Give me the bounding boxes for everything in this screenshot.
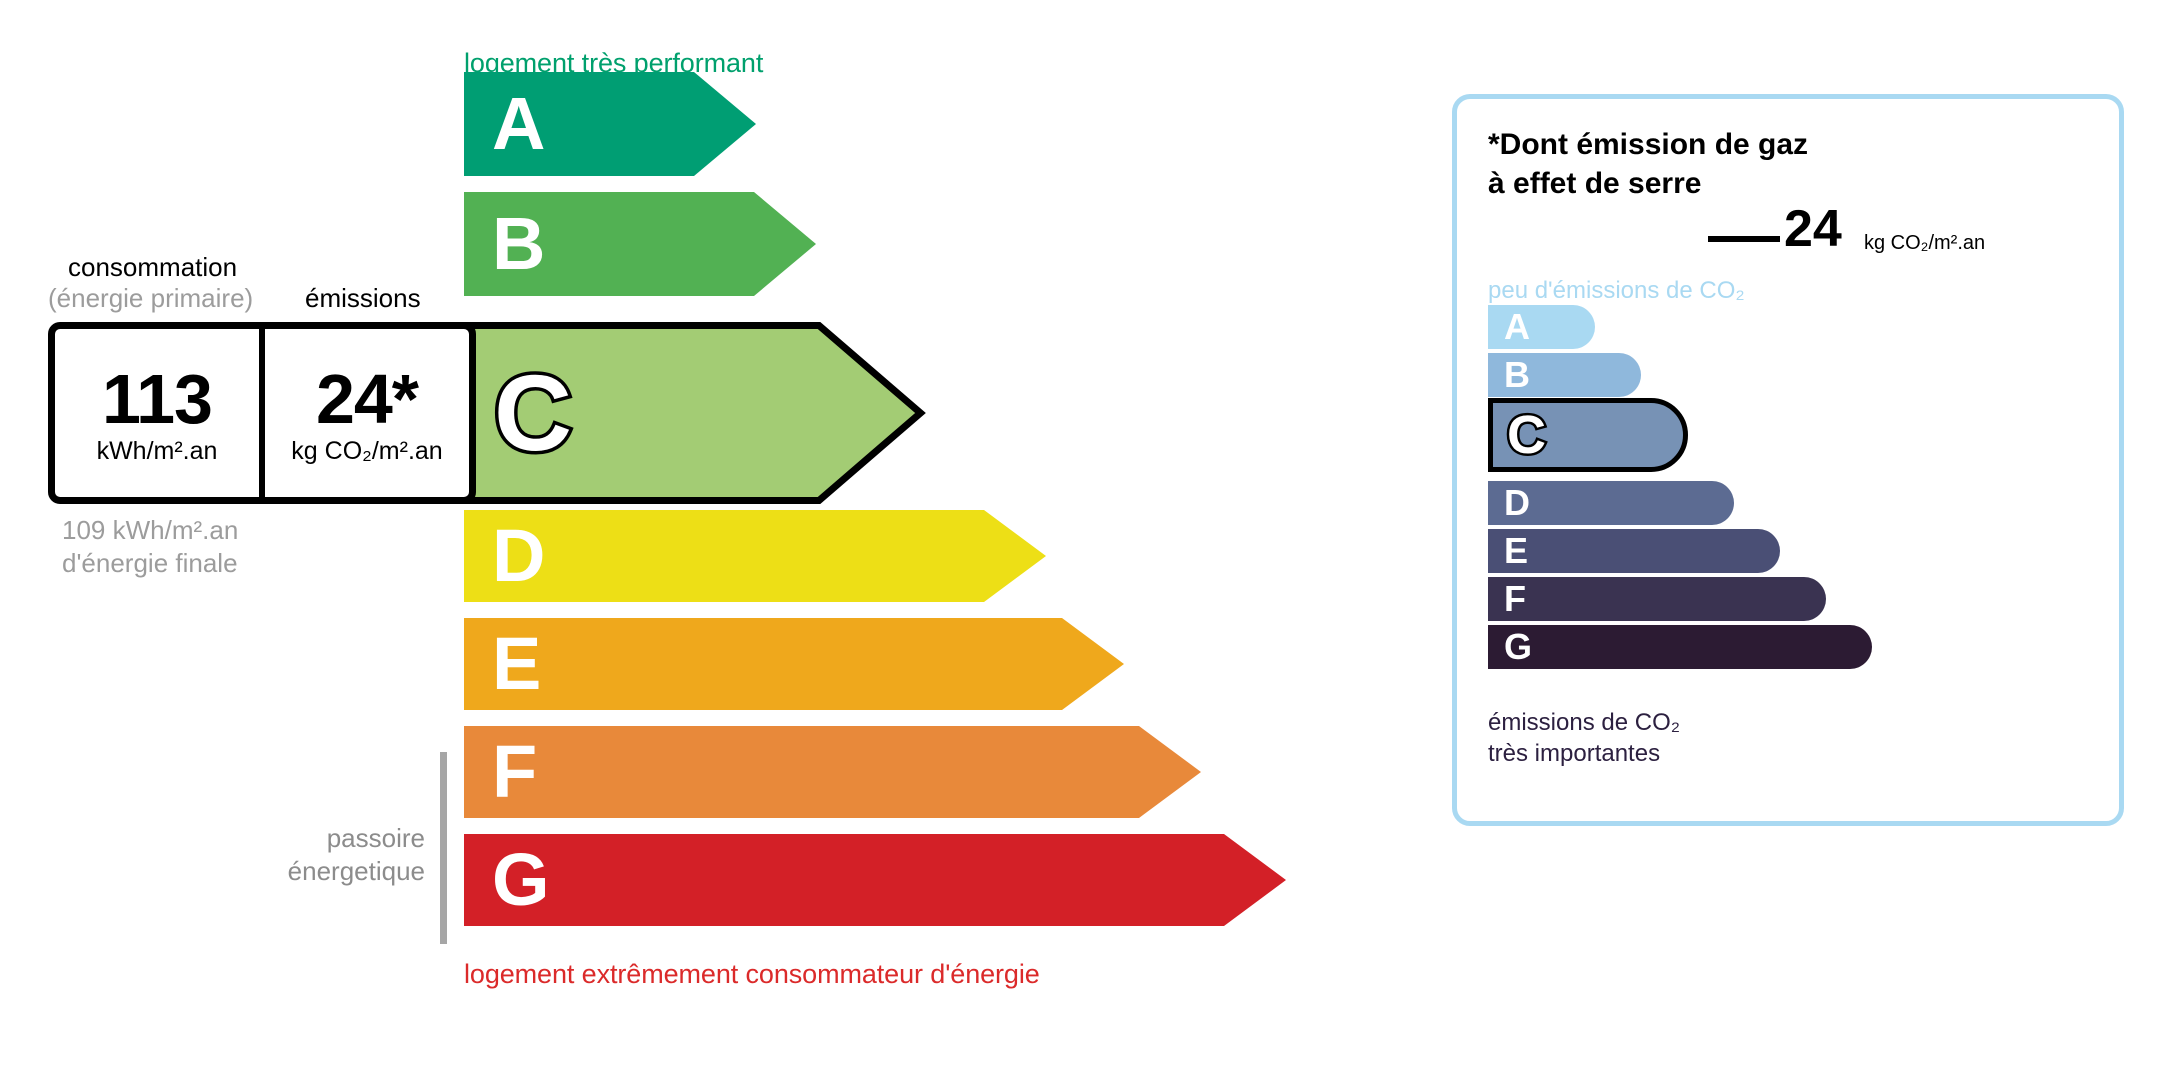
consumption-unit: kWh/m².an xyxy=(97,437,218,466)
co2-class-bar-f: F xyxy=(1488,577,1826,621)
label-passoire-energetique: passoire énergetique xyxy=(250,822,425,889)
label-consommation: consommation xyxy=(68,252,237,283)
label-energie-primaire: (énergie primaire) xyxy=(48,283,253,314)
co2-class-letter-f: F xyxy=(1504,581,1526,617)
co2-value: 24 xyxy=(1784,203,1842,255)
co2-class-bar-e: E xyxy=(1488,529,1780,573)
dpe-diagram: logement très performant ABCDEFG logemen… xyxy=(0,0,2169,1079)
co2-class-letter-d: D xyxy=(1504,485,1530,521)
energy-class-arrow-d: D xyxy=(464,510,1046,602)
co2-class-letter-e: E xyxy=(1504,533,1528,569)
emissions-value: 24* xyxy=(316,366,418,433)
co2-emissions-panel: *Dont émission de gaz à effet de serre p… xyxy=(1452,94,2124,826)
emissions-unit: kg CO₂/m².an xyxy=(291,437,442,466)
co2-class-bar-d: D xyxy=(1488,481,1734,525)
consumption-value: 113 xyxy=(102,366,212,433)
co2-bottom-line2: très importantes xyxy=(1488,738,1680,769)
energy-class-arrow-e: E xyxy=(464,618,1124,710)
co2-class-bar-c: C xyxy=(1488,398,1688,472)
co2-class-bar-g: G xyxy=(1488,625,1872,669)
energy-class-arrow-b: B xyxy=(464,192,816,296)
co2-class-bar-a: A xyxy=(1488,305,1595,349)
energy-class-arrow-a: A xyxy=(464,72,756,176)
co2-title-line1: *Dont émission de gaz xyxy=(1488,125,1808,164)
co2-class-letter-c: C xyxy=(1507,408,1546,462)
energie-finale-line1: 109 kWh/m².an xyxy=(62,514,238,547)
co2-panel-title: *Dont émission de gaz à effet de serre xyxy=(1488,125,1808,203)
co2-class-letter-b: B xyxy=(1504,357,1530,393)
passoire-line1: passoire xyxy=(250,822,425,855)
energy-class-arrow-f: F xyxy=(464,726,1201,818)
co2-class-letter-g: G xyxy=(1504,629,1532,665)
energy-performance-panel: logement très performant ABCDEFG logemen… xyxy=(0,0,1380,1079)
energie-finale-line2: d'énergie finale xyxy=(62,547,238,580)
co2-top-caption: peu d'émissions de CO₂ xyxy=(1488,277,1745,305)
energy-class-arrow-c: C xyxy=(464,322,924,504)
co2-bottom-caption: émissions de CO₂ très importantes xyxy=(1488,707,1680,769)
energy-class-arrow-g: G xyxy=(464,834,1286,926)
dpe-value-box: 113 kWh/m².an 24* kg CO₂/m².an xyxy=(48,322,476,504)
energy-bottom-caption: logement extrêmement consommateur d'éner… xyxy=(464,959,1040,990)
passoire-bracket xyxy=(440,752,447,944)
co2-class-bar-b: B xyxy=(1488,353,1641,397)
co2-class-letter-a: A xyxy=(1504,309,1530,345)
co2-value-unit: kg CO₂/m².an xyxy=(1864,232,1985,255)
co2-leader-line xyxy=(1708,236,1780,242)
passoire-line2: énergetique xyxy=(250,855,425,888)
co2-bottom-line1: émissions de CO₂ xyxy=(1488,707,1680,738)
consumption-value-cell: 113 kWh/m².an xyxy=(55,329,265,497)
co2-title-line2: à effet de serre xyxy=(1488,164,1808,203)
label-emissions: émissions xyxy=(305,283,421,314)
emissions-value-cell: 24* kg CO₂/m².an xyxy=(265,329,469,497)
label-energie-finale: 109 kWh/m².an d'énergie finale xyxy=(62,514,238,581)
